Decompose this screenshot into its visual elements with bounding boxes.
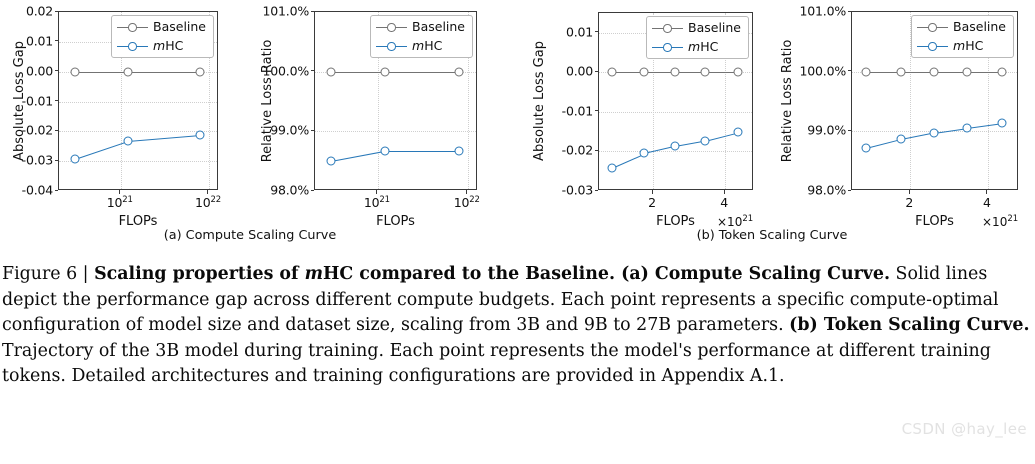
data-point-mhc: [997, 118, 1006, 127]
y-axis-label: Relative Loss Ratio: [260, 39, 275, 162]
legend-marker-icon: [117, 22, 148, 33]
y-axis-tick-mark: [848, 190, 852, 191]
chart-panel-1: 0.020.010.00-0.01-0.02-0.03-0.0410211022…: [0, 0, 250, 250]
y-axis-tick-label: -0.03: [520, 183, 593, 198]
chart-legend: BaselinemHC: [911, 15, 1014, 58]
y-axis-label: Relative Loss Ratio: [780, 39, 795, 162]
chart-panel-4: 101.0%100.0%99.0%98.0%24Relative Loss Ra…: [768, 0, 1033, 250]
x-axis-label: FLOPs: [119, 214, 158, 229]
gridline-horizontal: [59, 102, 217, 103]
legend-marker-icon: [117, 41, 148, 52]
series-line-baseline: [128, 72, 201, 73]
caption-run-0: Scaling properties of: [94, 264, 304, 284]
data-point-mhc: [196, 131, 205, 140]
y-axis-tick-label: -0.02: [520, 143, 593, 158]
x-axis-tick-mark: [376, 190, 377, 194]
x-axis-tick-label: 1022: [195, 195, 221, 210]
data-point-mhc: [607, 163, 616, 172]
gridline-horizontal: [599, 112, 752, 113]
y-axis-tick-label: 99.0%: [248, 123, 309, 138]
series-line-mhc: [128, 135, 201, 142]
data-point-baseline: [962, 67, 971, 76]
legend-item-mhc[interactable]: mHC: [917, 39, 1006, 53]
figure-caption: Figure 6 | Scaling properties of mHC com…: [2, 262, 1033, 390]
data-point-mhc: [929, 128, 938, 137]
legend-label: mHC: [953, 40, 983, 53]
x-axis-exponent-label: ×1021: [717, 214, 753, 229]
y-axis-tick-mark: [848, 70, 852, 71]
data-point-baseline: [380, 67, 389, 76]
y-axis-tick-mark: [848, 11, 852, 12]
data-point-baseline: [70, 67, 79, 76]
series-line-baseline: [75, 72, 128, 73]
legend-marker-icon: [917, 22, 948, 33]
y-axis-label: Absolute Loss Gap: [12, 41, 27, 161]
y-axis-tick-mark: [311, 190, 315, 191]
x-axis-tick-mark: [724, 190, 725, 194]
data-point-mhc: [70, 155, 79, 164]
legend-label: mHC: [688, 41, 718, 54]
legend-item-baseline[interactable]: Baseline: [917, 20, 1006, 34]
chart-panel-3: 0.010.00-0.01-0.02-0.0324Absolute Loss G…: [520, 0, 770, 250]
legend-label: Baseline: [153, 21, 206, 34]
y-axis-tick-mark: [595, 110, 599, 111]
data-point-baseline: [123, 67, 132, 76]
data-point-mhc: [701, 136, 710, 145]
legend-item-baseline[interactable]: Baseline: [652, 21, 741, 35]
x-axis-label: FLOPs: [915, 214, 954, 229]
x-axis-tick-label: 1021: [364, 195, 390, 210]
x-axis-tick-mark: [119, 190, 120, 194]
y-axis-tick-mark: [595, 71, 599, 72]
y-axis-tick-mark: [55, 70, 59, 71]
data-point-baseline: [997, 67, 1006, 76]
data-point-baseline: [861, 67, 870, 76]
x-axis-tick-label: 4: [720, 195, 728, 210]
series-line-mhc: [385, 151, 459, 152]
y-axis-tick-label: 100.0%: [248, 63, 309, 78]
caption-run-2: HC compared to the Baseline. (a) Compute…: [323, 264, 890, 284]
legend-item-mhc[interactable]: mHC: [117, 39, 206, 53]
data-point-mhc: [962, 123, 971, 132]
y-axis-tick-label: -0.01: [520, 103, 593, 118]
y-axis-tick-mark: [55, 40, 59, 41]
y-axis-tick-label: -0.04: [0, 183, 53, 198]
data-point-baseline: [701, 68, 710, 77]
chart-legend: BaselinemHC: [646, 16, 749, 59]
data-point-mhc: [455, 147, 464, 156]
y-axis-tick-mark: [55, 130, 59, 131]
chart-legend: BaselinemHC: [370, 15, 473, 58]
y-axis-tick-mark: [595, 31, 599, 32]
x-axis-tick-label: 1022: [454, 195, 480, 210]
gridline-horizontal: [599, 151, 752, 152]
data-point-mhc: [896, 135, 905, 144]
y-axis-tick-mark: [311, 70, 315, 71]
caption-figure-number: Figure 6 |: [2, 264, 94, 284]
y-axis-label: Absolute Loss Gap: [532, 41, 547, 161]
legend-label: Baseline: [953, 21, 1006, 34]
legend-label: Baseline: [688, 22, 741, 35]
subcaption-b: (b) Token Scaling Curve: [697, 228, 848, 243]
y-axis-tick-mark: [55, 190, 59, 191]
y-axis-tick-label: 98.0%: [248, 183, 309, 198]
data-point-baseline: [607, 68, 616, 77]
y-axis-tick-label: 98.0%: [768, 183, 846, 198]
legend-label: mHC: [153, 40, 183, 53]
gridline-horizontal: [59, 161, 217, 162]
subcaption-a: (a) Compute Scaling Curve: [164, 228, 336, 243]
data-point-baseline: [455, 67, 464, 76]
data-point-baseline: [640, 68, 649, 77]
legend-item-baseline[interactable]: Baseline: [376, 20, 465, 34]
legend-item-mhc[interactable]: mHC: [376, 39, 465, 53]
x-axis-tick-label: 2: [648, 195, 656, 210]
gridline-horizontal: [59, 131, 217, 132]
data-point-baseline: [733, 68, 742, 77]
data-point-mhc: [670, 142, 679, 151]
y-axis-tick-mark: [311, 11, 315, 12]
data-point-baseline: [326, 67, 335, 76]
data-point-mhc: [380, 147, 389, 156]
data-point-mhc: [861, 144, 870, 153]
y-axis-tick-mark: [595, 190, 599, 191]
gridline-horizontal: [315, 131, 476, 132]
y-axis-tick-mark: [311, 130, 315, 131]
series-line-baseline: [331, 72, 385, 73]
figure-panels: 0.020.010.00-0.01-0.02-0.03-0.0410211022…: [0, 0, 1035, 250]
y-axis-tick-mark: [848, 130, 852, 131]
data-point-baseline: [896, 67, 905, 76]
x-axis-tick-mark: [909, 190, 910, 194]
legend-label: Baseline: [412, 21, 465, 34]
chart-legend: BaselinemHC: [111, 15, 214, 58]
caption-run-1: m: [305, 264, 323, 284]
legend-item-mhc[interactable]: mHC: [652, 40, 741, 54]
x-axis-tick-label: 4: [983, 195, 991, 210]
legend-marker-icon: [652, 23, 683, 34]
data-point-mhc: [640, 149, 649, 158]
y-axis-tick-mark: [595, 150, 599, 151]
y-axis-tick-label: 0.00: [520, 64, 593, 79]
x-axis-label: FLOPs: [656, 214, 695, 229]
y-axis-tick-label: 0.02: [0, 4, 53, 19]
watermark-text: CSDN @hay_lee: [902, 420, 1027, 438]
x-axis-tick-mark: [986, 190, 987, 194]
caption-run-5: Trajectory of the 3B model during traini…: [2, 341, 991, 387]
legend-item-baseline[interactable]: Baseline: [117, 20, 206, 34]
x-axis-label: FLOPs: [376, 214, 415, 229]
x-axis-tick-label: 2: [905, 195, 913, 210]
y-axis-tick-label: 0.01: [520, 24, 593, 39]
data-point-baseline: [196, 67, 205, 76]
legend-marker-icon: [652, 42, 683, 53]
y-axis-tick-mark: [55, 160, 59, 161]
data-point-mhc: [733, 128, 742, 137]
series-line-baseline: [385, 72, 459, 73]
data-point-mhc: [326, 157, 335, 166]
y-axis-tick-label: 101.0%: [768, 4, 846, 19]
y-axis-tick-mark: [55, 100, 59, 101]
x-axis-tick-mark: [652, 190, 653, 194]
x-axis-tick-mark: [207, 190, 208, 194]
y-axis-tick-label: 101.0%: [248, 4, 309, 19]
legend-label: mHC: [412, 40, 442, 53]
data-point-baseline: [670, 68, 679, 77]
chart-panel-2: 101.0%100.0%99.0%98.0%10211022Relative L…: [248, 0, 503, 250]
data-point-baseline: [929, 67, 938, 76]
data-point-mhc: [123, 137, 132, 146]
y-axis-tick-mark: [55, 11, 59, 12]
legend-marker-icon: [376, 22, 407, 33]
x-axis-tick-label: 1021: [107, 195, 133, 210]
x-axis-tick-mark: [466, 190, 467, 194]
x-axis-exponent-label: ×1021: [982, 214, 1018, 229]
caption-run-4: (b) Token Scaling Curve.: [789, 315, 1029, 335]
legend-marker-icon: [917, 41, 948, 52]
legend-marker-icon: [376, 41, 407, 52]
